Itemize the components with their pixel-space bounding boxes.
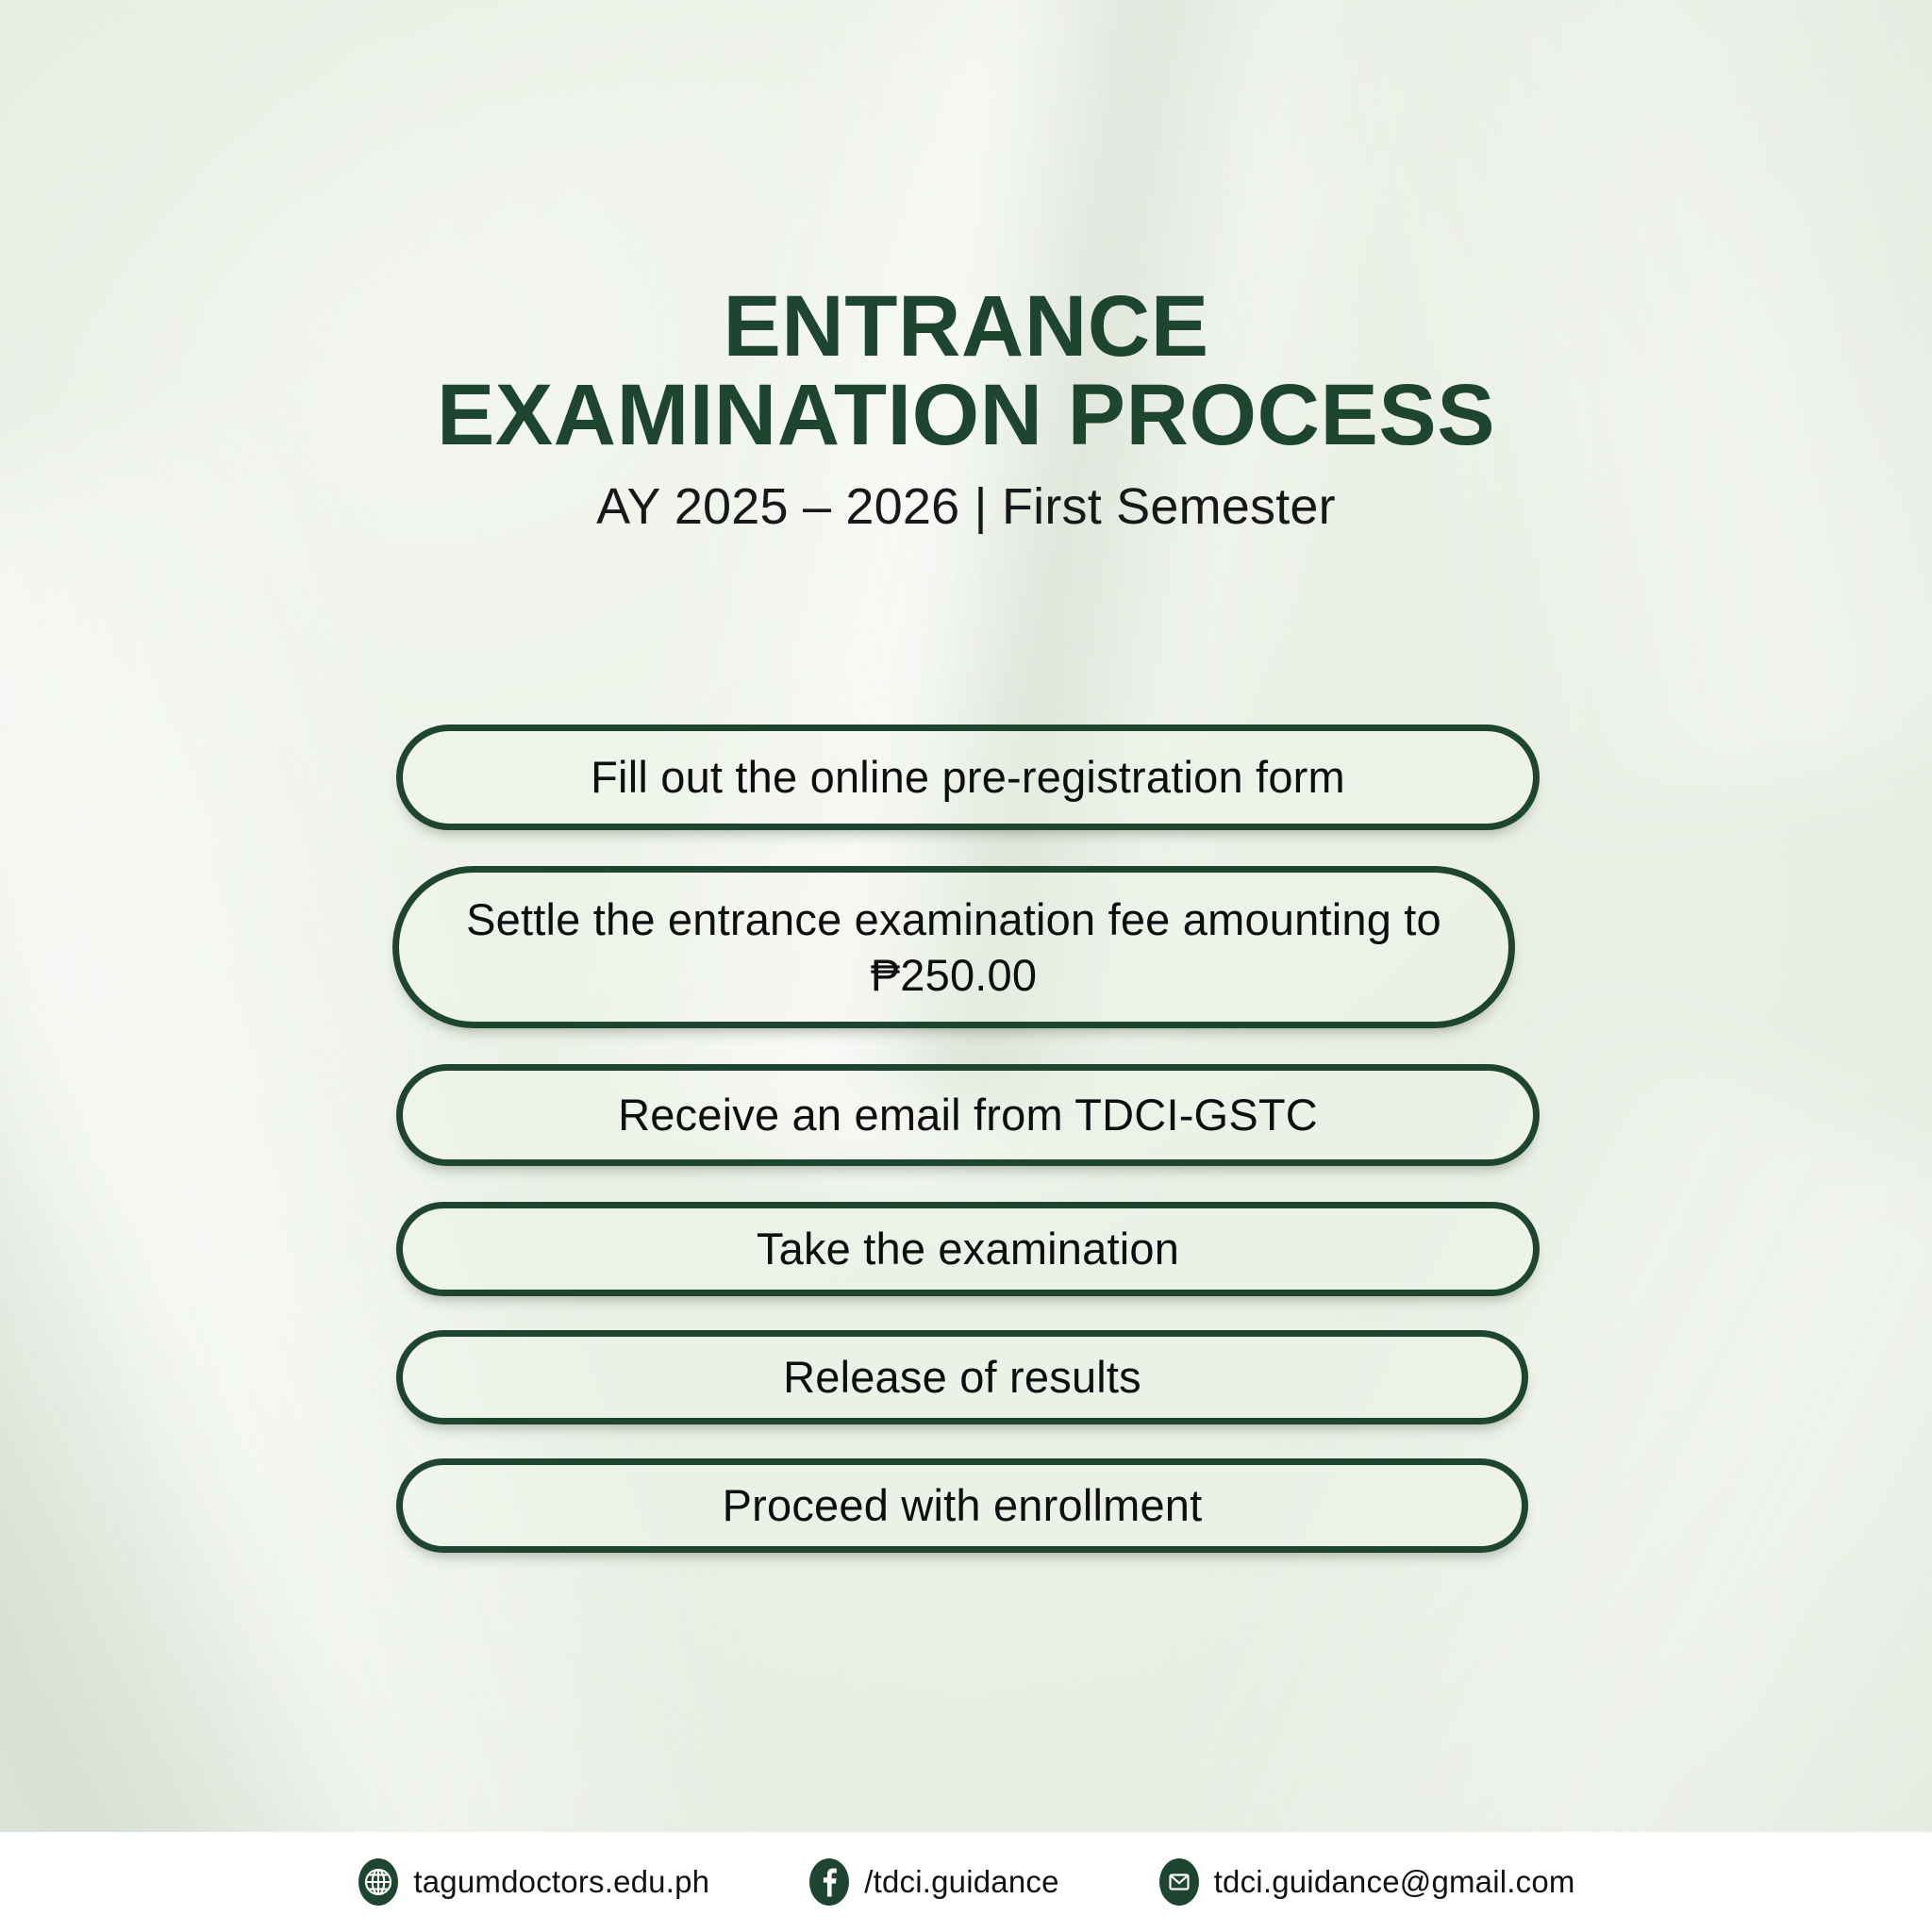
poster: ENTRANCE EXAMINATION PROCESS AY 2025 – 2… — [0, 0, 1932, 1932]
contact-website[interactable]: tagumdoctors.edu.ph — [357, 1857, 709, 1907]
process-step-4: Take the examination — [396, 1202, 1540, 1296]
page-title: ENTRANCE EXAMINATION PROCESS — [0, 283, 1932, 460]
process-step-5: Release of results — [396, 1330, 1528, 1424]
process-step-5-label: Release of results — [783, 1349, 1141, 1405]
contact-website-label: tagumdoctors.edu.ph — [413, 1864, 709, 1900]
title-line-1: ENTRANCE — [723, 278, 1208, 375]
process-step-2: Settle the entrance examination fee amou… — [392, 866, 1515, 1028]
process-step-3-label: Receive an email from TDCI-GSTC — [618, 1087, 1318, 1142]
mail-icon — [1158, 1857, 1201, 1907]
process-step-2-label: Settle the entrance examination fee amou… — [442, 891, 1465, 1003]
process-step-3: Receive an email from TDCI-GSTC — [396, 1064, 1540, 1166]
process-step-1-label: Fill out the online pre-registration for… — [591, 749, 1345, 805]
contact-facebook-label: /tdci.guidance — [864, 1864, 1058, 1900]
title-line-2: EXAMINATION PROCESS — [0, 372, 1932, 460]
contact-email-label: tdci.guidance@gmail.com — [1214, 1864, 1575, 1900]
process-step-list: Fill out the online pre-registration for… — [396, 724, 1540, 1553]
page-subtitle: AY 2025 – 2026 | First Semester — [0, 477, 1932, 536]
contact-footer: tagumdoctors.edu.ph /tdci.guidance tdci.… — [0, 1832, 1932, 1932]
facebook-icon — [808, 1857, 851, 1907]
globe-icon — [357, 1857, 400, 1907]
contact-facebook[interactable]: /tdci.guidance — [808, 1857, 1058, 1907]
process-step-6-label: Proceed with enrollment — [723, 1477, 1203, 1533]
process-step-4-label: Take the examination — [757, 1221, 1179, 1276]
contact-email[interactable]: tdci.guidance@gmail.com — [1158, 1857, 1575, 1907]
process-step-1: Fill out the online pre-registration for… — [396, 724, 1540, 830]
process-step-6: Proceed with enrollment — [396, 1458, 1528, 1553]
poster-header: ENTRANCE EXAMINATION PROCESS AY 2025 – 2… — [0, 283, 1932, 536]
